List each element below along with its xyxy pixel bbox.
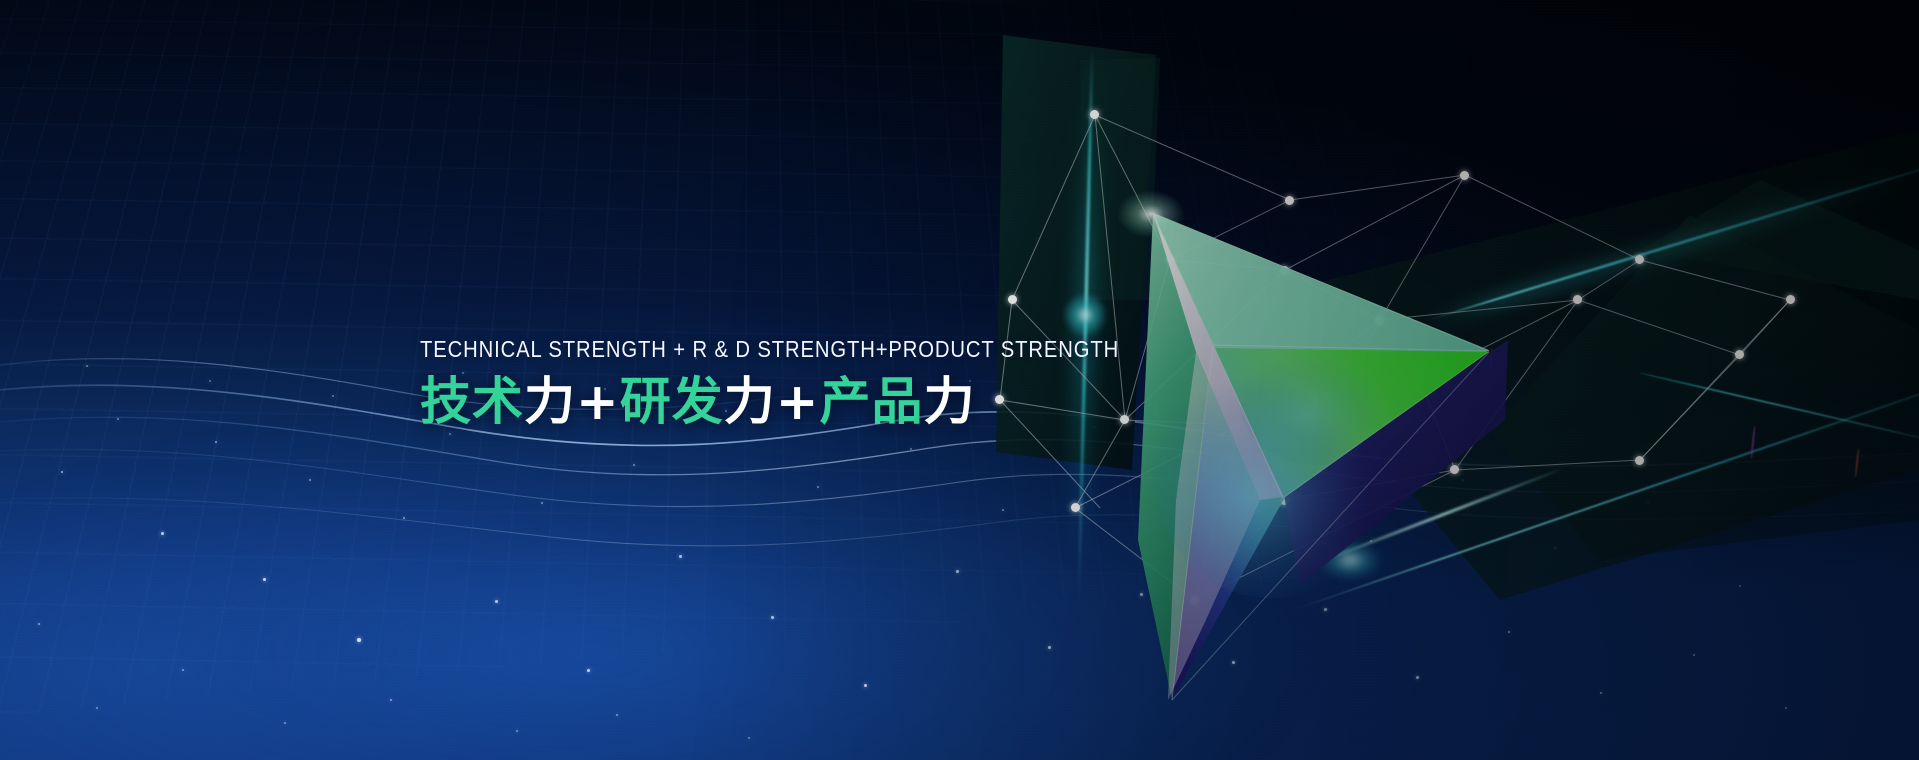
hero-copy: TECHNICAL STRENGTH + R & D STRENGTH+PROD… [420,338,1214,430]
headline-seg-6: 产品 [820,373,924,432]
headline-seg-2: + [576,373,620,432]
headline-seg-7: 力 [924,373,976,432]
headline-seg-1: 力 [524,373,576,432]
headline-seg-5: + [776,373,820,432]
hero-banner: TECHNICAL STRENGTH + R & D STRENGTH+PROD… [0,0,1919,760]
headline: 技术力+研发力+产品力 [420,375,1214,430]
headline-seg-3: 研发 [620,373,724,432]
headline-seg-4: 力 [724,373,776,432]
headline-seg-0: 技术 [420,373,524,432]
eyebrow-text: TECHNICAL STRENGTH + R & D STRENGTH+PROD… [420,338,1119,361]
